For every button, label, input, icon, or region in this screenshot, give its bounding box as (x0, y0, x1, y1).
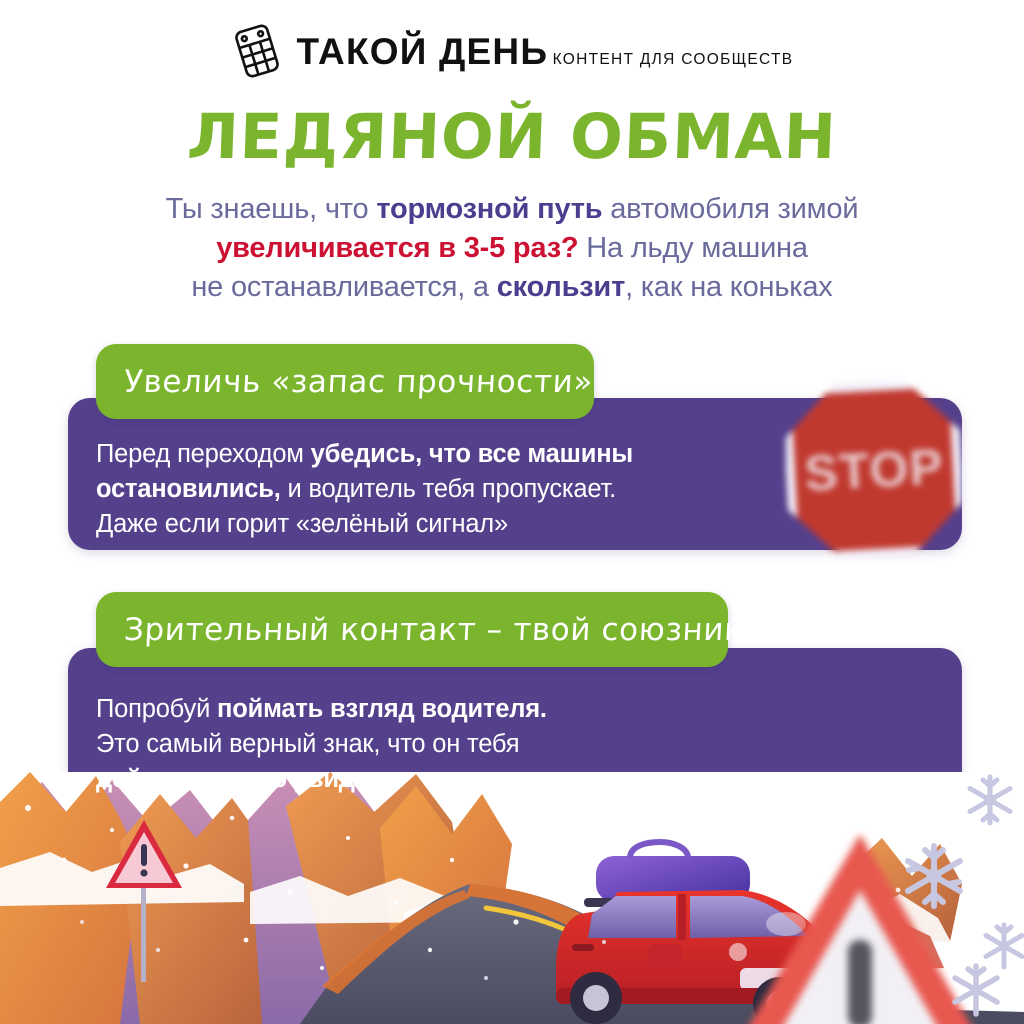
tip-card-2-badge-label: Зрительный контакт – твой союзник (123, 612, 744, 648)
tip-card-2-badge: Зрительный контакт – твой союзник (96, 592, 728, 667)
snowflake-icon (962, 772, 1018, 828)
stop-sign-label: STOP (803, 437, 945, 502)
card-text-run: Перед переходом (96, 440, 311, 468)
tip-card-2-text: Попробуй поймать взгляд водителя. Это са… (96, 692, 816, 797)
tip-card-1-badge-label: Увеличь «запас прочности» (123, 364, 594, 400)
card-emphasis-make-sure: убедись, что все машины (311, 440, 633, 468)
poster-canvas: ТАКОЙ ДЕНЬ КОНТЕНТ ДЛЯ СООБЩЕСТВ ЛЕДЯНОЙ… (0, 0, 1024, 1024)
card-text-run: Даже если горит «зелёный сигнал» (96, 510, 508, 538)
snowflake-icon (946, 960, 1006, 1020)
card-text-run: Это самый верный знак, что он тебя (96, 730, 519, 758)
card-emphasis-really-saw: действительно увидел (96, 765, 385, 793)
card-emphasis-stopped: остановились, (96, 475, 281, 503)
card-emphasis-catch-gaze: поймать взгляд водителя. (217, 695, 547, 723)
card-text-run: и водитель тебя пропускает. (281, 475, 616, 503)
card-text-run: Попробуй (96, 695, 217, 723)
tip-card-1-text: Перед переходом убедись, что все машины … (96, 437, 796, 542)
stop-sign-graphic: STOP (786, 382, 962, 558)
tip-card-1-badge: Увеличь «запас прочности» (96, 344, 594, 419)
snowflake-icon (898, 840, 970, 912)
